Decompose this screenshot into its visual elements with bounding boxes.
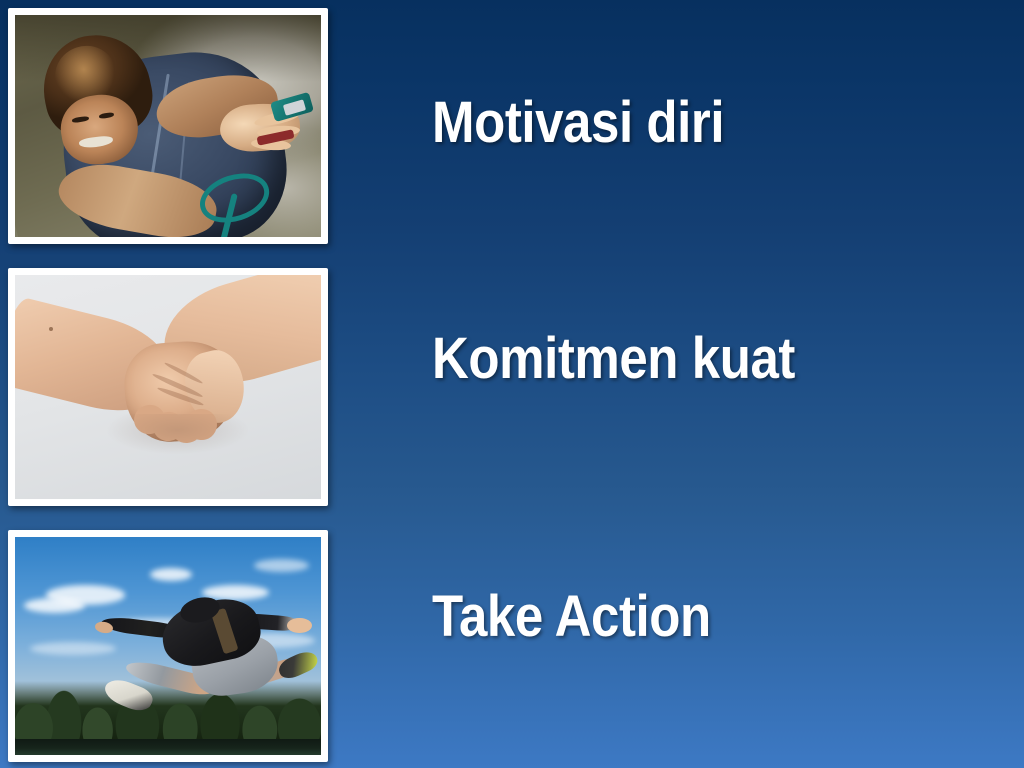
caption-komitmen-kuat: Komitmen kuat xyxy=(432,330,795,388)
cloud-7 xyxy=(30,642,116,655)
jumper-right-hand xyxy=(287,618,311,633)
water-band xyxy=(15,739,321,755)
hand-shadow xyxy=(107,414,248,454)
cloud-8 xyxy=(254,559,309,572)
tree-line xyxy=(15,681,321,740)
photo-frame-1 xyxy=(8,8,328,244)
holding-hands-photo xyxy=(15,275,321,499)
presentation-slide: Motivasi diri Komitmen kuat xyxy=(0,0,1024,768)
cloud-3 xyxy=(150,568,193,581)
caption-motivasi-diri: Motivasi diri xyxy=(432,94,724,152)
caption-take-action: Take Action xyxy=(432,588,711,646)
photo-frame-3 xyxy=(8,530,328,762)
rock-climber-photo xyxy=(15,15,321,237)
jumping-man-photo xyxy=(15,537,321,755)
photo-frame-2 xyxy=(8,268,328,506)
skin-mole xyxy=(49,327,53,331)
